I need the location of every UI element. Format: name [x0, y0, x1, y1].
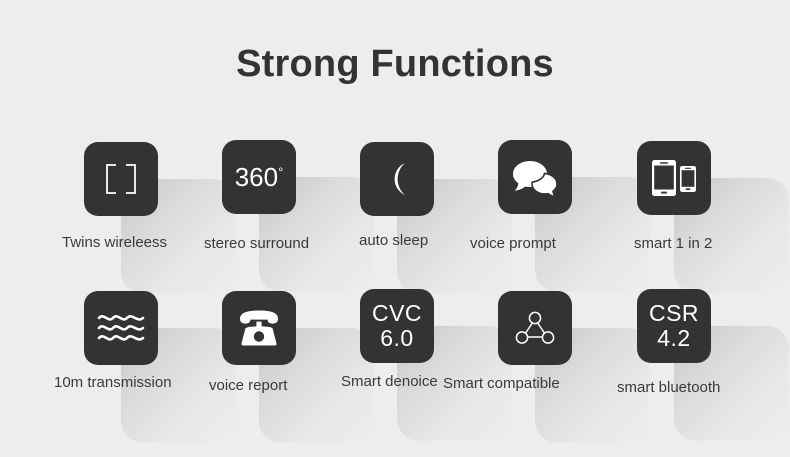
- tile-wrap: [498, 291, 572, 365]
- feature-voice-prompt[interactable]: [498, 140, 572, 214]
- tile-voice-prompt[interactable]: [498, 140, 572, 214]
- tile-wrap: CVC 6.0: [360, 289, 434, 363]
- brackets-icon: [99, 157, 143, 201]
- feature-voice-report[interactable]: [222, 291, 296, 365]
- tile-smart-denoice[interactable]: CVC 6.0: [360, 289, 434, 363]
- feature-label-auto-sleep: auto sleep: [359, 232, 428, 250]
- tile-wrap: [637, 141, 711, 215]
- 360-degrees-icon: 360°: [235, 163, 284, 191]
- feature-label-smart-compatible: Smart compatible: [443, 375, 560, 393]
- degree-symbol: °: [278, 164, 283, 179]
- rotary-telephone-icon: [236, 309, 282, 347]
- feature-smart-bluetooth[interactable]: CSR 4.2: [637, 289, 711, 363]
- feature-smart-1-in-2[interactable]: [637, 141, 711, 215]
- tile-wrap: [498, 140, 572, 214]
- feature-twins-wireless[interactable]: [84, 142, 158, 216]
- tile-smart-compatible[interactable]: [498, 291, 572, 365]
- feature-label-voice-report: voice report: [209, 377, 287, 395]
- feature-auto-sleep[interactable]: [360, 142, 434, 216]
- tile-10m-transmission[interactable]: [84, 291, 158, 365]
- crescent-moon-icon: [377, 159, 417, 199]
- feature-label-smart-1-in-2: smart 1 in 2: [634, 235, 712, 253]
- page-title: Strong Functions: [0, 42, 790, 86]
- tile-smart-1-in-2[interactable]: [637, 141, 711, 215]
- feature-label-10m-transmission: 10m transmission: [54, 374, 172, 392]
- csr-label: CSR: [649, 300, 699, 326]
- cvc-version-icon: CVC 6.0: [372, 301, 422, 351]
- feature-label-twins-wireless: Twins wireleess: [62, 234, 167, 252]
- 360-value: 360: [235, 162, 278, 192]
- cvc-version: 6.0: [380, 325, 413, 351]
- tile-wrap: CSR 4.2: [637, 289, 711, 363]
- tile-stereo-surround[interactable]: 360°: [222, 140, 296, 214]
- tile-wrap: 360°: [222, 140, 296, 214]
- csr-version-icon: CSR 4.2: [649, 301, 699, 351]
- feature-smart-denoice[interactable]: CVC 6.0: [360, 289, 434, 363]
- tile-twins-wireless[interactable]: [84, 142, 158, 216]
- tile-wrap: [84, 291, 158, 365]
- speech-bubbles-icon: [512, 157, 558, 197]
- feature-label-voice-prompt: voice prompt: [470, 235, 556, 253]
- tile-auto-sleep[interactable]: [360, 142, 434, 216]
- tile-wrap: [222, 291, 296, 365]
- feature-stereo-surround[interactable]: 360°: [222, 140, 296, 214]
- csr-version: 4.2: [657, 325, 690, 351]
- tablet-and-phone-icon: [650, 157, 698, 199]
- tile-smart-bluetooth[interactable]: CSR 4.2: [637, 289, 711, 363]
- feature-label-smart-bluetooth: smart bluetooth: [617, 379, 720, 397]
- tile-wrap: [84, 142, 158, 216]
- tile-voice-report[interactable]: [222, 291, 296, 365]
- waves-icon: [97, 311, 145, 345]
- feature-label-smart-denoice: Smart denoice: [341, 373, 438, 391]
- network-nodes-icon: [514, 309, 556, 347]
- cvc-label: CVC: [372, 300, 422, 326]
- feature-10m-transmission[interactable]: [84, 291, 158, 365]
- feature-label-stereo-surround: stereo surround: [204, 235, 309, 253]
- feature-smart-compatible[interactable]: [498, 291, 572, 365]
- tile-wrap: [360, 142, 434, 216]
